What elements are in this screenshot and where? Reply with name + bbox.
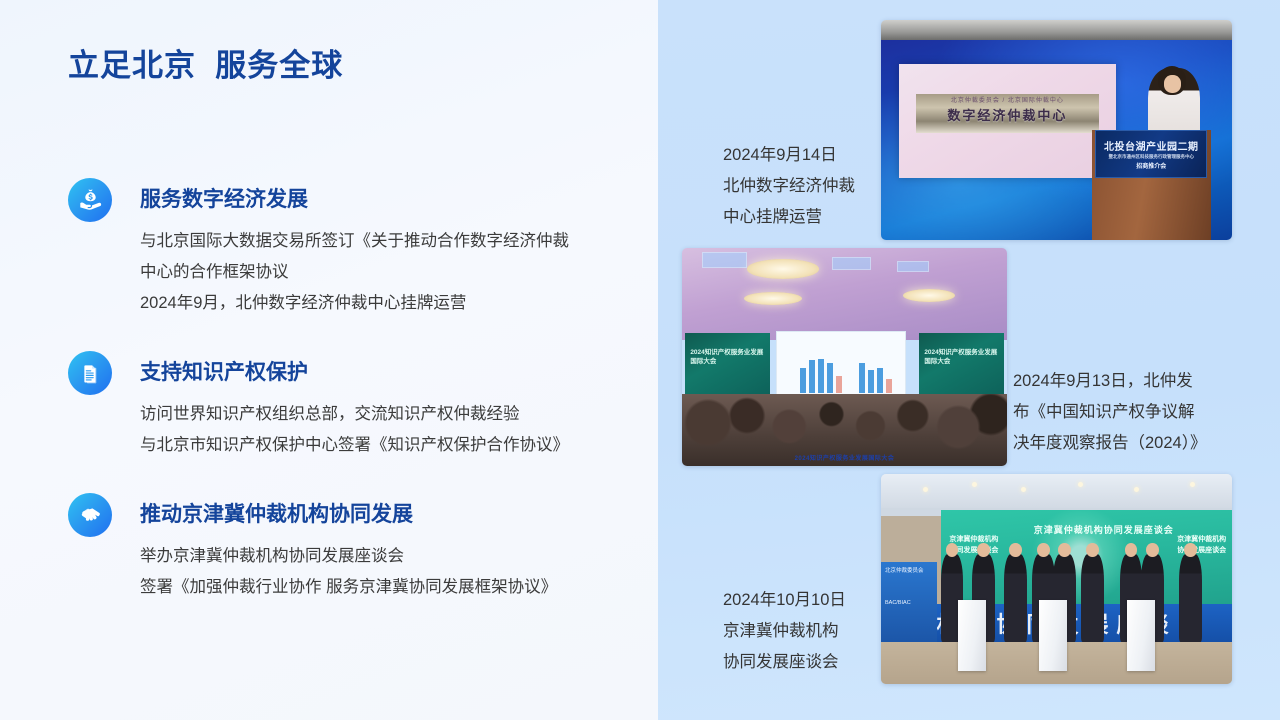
photo-caption-3: 2024年10月10日 京津冀仲裁机构 协同发展座谈会 — [723, 585, 888, 678]
white-podium — [1039, 600, 1067, 671]
photo-caption-2: 2024年9月13日，北仲发 布《中国知识产权争议解 决年度观察报告（2024）… — [1013, 366, 1243, 459]
section-ip-protection: 支持知识产权保护 访问世界知识产权组织总部，交流知识产权仲裁经验 与北京市知识产… — [68, 351, 648, 461]
slide-canvas: 立足北京 服务全球 服务数字经济发展 与北京国际大数据交易所签订《关于推动合作数… — [0, 0, 1280, 720]
photo-ip-services-forum: 2024知识产权服务业发展国际大会 2024知识产权服务业发展国际大会 2024… — [682, 248, 1007, 466]
slide-subtitle: 北京仲裁委员会 / 北京国际仲裁中心 — [925, 95, 1090, 104]
ceiling-panel — [897, 261, 930, 272]
white-podium — [1127, 600, 1155, 671]
speaker-face — [1164, 75, 1182, 93]
ceiling-panel — [702, 252, 748, 267]
section-jingjinji-development: 推动京津冀仲裁机构协同发展 举办京津冀仲裁机构协同发展座谈会 签署《加强仲裁行业… — [68, 493, 648, 603]
photo-jingjinji-arbitration-symposium: 京津冀仲裁机构 协同发展座谈会 京津冀仲裁机构 协同发展座谈会 京津冀仲裁机构协… — [881, 474, 1232, 684]
podium-sign-line2: 暨北京市通州区科技服务行政管理服务中心 — [1109, 154, 1195, 160]
ceiling — [881, 474, 1232, 508]
page-title: 立足北京 服务全球 — [68, 40, 343, 85]
slide-title: 数字经济仲裁中心 — [920, 105, 1094, 124]
section-heading: 服务数字经济发展 — [140, 178, 648, 222]
side-screen-title: 2024知识产权服务业发展国际大会 — [690, 348, 766, 366]
section-body: 举办京津冀仲裁机构协同发展座谈会 签署《加强仲裁行业协作 服务京津冀协同发展框架… — [140, 541, 648, 603]
documents-icon — [68, 351, 112, 395]
attendee — [1179, 554, 1202, 642]
section-body: 访问世界知识产权组织总部，交流知识产权仲裁经验 与北京市知识产权保护中心签署《知… — [140, 399, 648, 461]
photo-digital-economy-arbitration-center: 北京仲裁委员会 / 北京国际仲裁中心 数字经济仲裁中心 北投台湖产业园二期 暨北… — [881, 20, 1232, 240]
white-podium — [958, 600, 986, 671]
section-body: 与北京国际大数据交易所签订《关于推动合作数字经济仲裁 中心的合作框架协议 202… — [140, 226, 648, 319]
photo-caption-1: 2024年9月14日 北仲数字经济仲裁 中心挂牌运营 — [723, 140, 883, 233]
kiosk-line1: 北京仲裁委员会 — [885, 566, 933, 574]
money-bag-icon — [68, 178, 112, 222]
side-screen-title: 2024知识产权服务业发展国际大会 — [924, 348, 1000, 366]
side-screen-left: 2024知识产权服务业发展国际大会 — [685, 333, 770, 403]
section-heading: 推动京津冀仲裁机构协同发展 — [140, 493, 648, 537]
kiosk-line2: BAC/BIAC — [885, 600, 933, 606]
attendee — [1081, 554, 1104, 642]
podium-sign-line1: 北投台湖产业园二期 — [1104, 138, 1199, 153]
info-kiosk: 北京仲裁委员会 BAC/BIAC — [881, 562, 937, 642]
handshake-icon — [68, 493, 112, 537]
podium-sign: 北投台湖产业园二期 暨北京市通州区科技服务行政管理服务中心 招商推介会 — [1095, 130, 1207, 178]
left-content-panel: 立足北京 服务全球 服务数字经济发展 与北京国际大数据交易所签订《关于推动合作数… — [0, 0, 658, 720]
ceiling-lamp — [744, 292, 803, 305]
side-screen-right: 2024知识产权服务业发展国际大会 — [919, 333, 1004, 403]
projection-slide: 北京仲裁委员会 / 北京国际仲裁中心 数字经济仲裁中心 — [899, 64, 1117, 178]
section-heading: 支持知识产权保护 — [140, 351, 648, 395]
section-list: 服务数字经济发展 与北京国际大数据交易所签订《关于推动合作数字经济仲裁 中心的合… — [68, 178, 648, 635]
ceiling-panel — [832, 257, 871, 270]
led-title: 京津冀仲裁机构协同发展座谈会 — [1005, 523, 1203, 536]
section-digital-economy: 服务数字经济发展 与北京国际大数据交易所签订《关于推动合作数字经济仲裁 中心的合… — [68, 178, 648, 319]
attendee — [1004, 554, 1027, 642]
podium-sign-line3: 招商推介会 — [1136, 161, 1166, 170]
ceiling-strip — [881, 20, 1232, 40]
ceiling-lamp — [747, 259, 819, 279]
stage-band-text: 2024知识产权服务业发展国际大会 — [682, 453, 1007, 462]
